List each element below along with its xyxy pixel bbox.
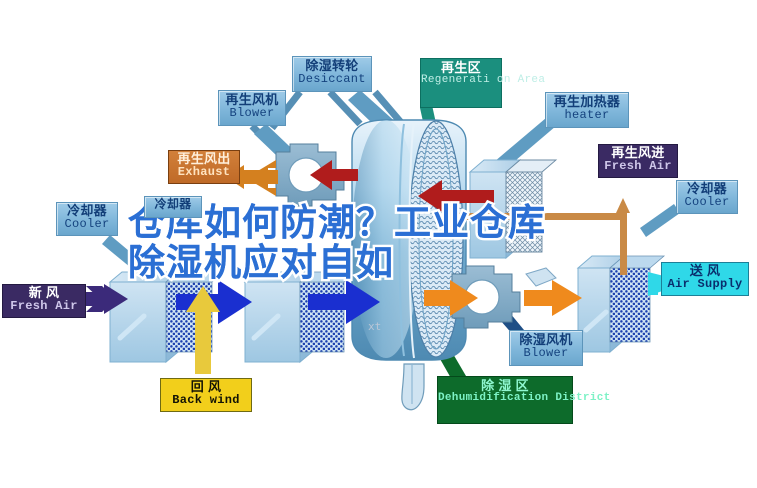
page-title: 仓库如何防潮？工业仓库 除湿机应对自如 xyxy=(128,203,648,283)
label-cooler-right: 冷却器 Cooler xyxy=(676,180,738,214)
label-cooler-mid: 冷却器 xyxy=(144,196,202,218)
flow-dry-air-2 xyxy=(524,280,582,316)
label-desiccant-wheel: 除湿转轮 Desiccant xyxy=(292,56,372,92)
label-air-supply: 送 风 Air Supply xyxy=(661,262,749,296)
watermark-text: xt xyxy=(368,320,381,333)
label-cooler-left: 冷却器 Cooler xyxy=(56,202,118,236)
label-fresh-air-regeneration: 再生风进 Fresh Air xyxy=(598,144,678,178)
cooler-unit-mid xyxy=(245,272,356,362)
label-regeneration-heater: 再生加热器 heater xyxy=(545,92,629,128)
label-dehumidify-blower: 除湿风机 Blower xyxy=(509,330,583,366)
label-fresh-air-process: 新 风 Fresh Air xyxy=(2,284,86,318)
label-dehumidification-district: 除 湿 区 Dehumidification District xyxy=(437,376,573,424)
dehumidifier-diagram-canvas: xt xyxy=(0,0,757,488)
label-regeneration-blower: 再生风机 Blower xyxy=(218,90,286,126)
label-regeneration-area: 再生区 Regenerati on Area xyxy=(420,58,502,108)
label-exhaust-air: 再生风出 Exhaust xyxy=(168,150,240,184)
label-back-wind: 回 风 Back wind xyxy=(160,378,252,412)
